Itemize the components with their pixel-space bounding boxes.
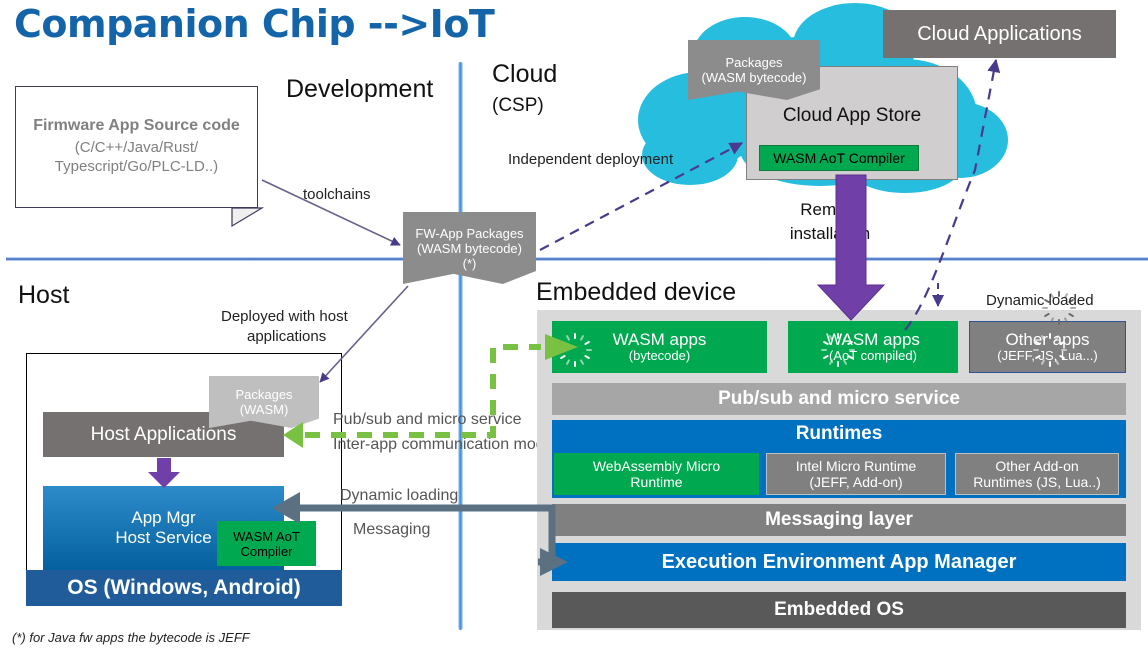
page-title: Companion Chip -->IoT (14, 2, 494, 46)
arrow-remote-installation (818, 175, 884, 320)
cloud-packages-line2: (WASM bytecode) (702, 70, 807, 85)
embedded-runtime-0[interactable]: WebAssembly Micro Runtime (554, 453, 759, 495)
embedded-runtime-2-line1: Other Add-on (995, 458, 1078, 474)
label-deployed-with-host-l1: Deployed with host (221, 308, 348, 325)
embedded-pubsub-bar: Pub/sub and micro service (552, 383, 1126, 415)
firmware-source-line2: Typescript/Go/PLC-LD..) (55, 158, 218, 177)
zone-label-embedded: Embedded device (536, 278, 736, 307)
fw-app-packages-line3: (*) (463, 256, 477, 271)
dynamic-loaded-icon-0 (562, 330, 588, 356)
host-aot-line1: WASM AoT (233, 529, 300, 544)
embedded-app-manager: Execution Environment App Manager (552, 543, 1126, 581)
zone-label-cloud: Cloud (492, 60, 557, 89)
source-card-pointer (232, 208, 262, 226)
firmware-source-title: Firmware App Source code (33, 117, 240, 135)
cloud-app-store-title: Cloud App Store (747, 105, 957, 127)
cloud-applications-box[interactable]: Cloud Applications (883, 10, 1116, 58)
zone-label-host: Host (18, 281, 69, 310)
host-packages-line2: (WASM) (240, 402, 289, 417)
host-aot-line2: Compiler (240, 544, 292, 559)
footnote: (*) for Java fw apps the bytecode is JEF… (12, 630, 250, 645)
embedded-messaging-layer: Messaging layer (552, 504, 1126, 536)
embedded-app-tile-1[interactable]: WASM apps (AoT compiled) (788, 321, 958, 373)
embedded-runtime-2-line2: Runtimes (JS, Lua..) (973, 474, 1101, 490)
zone-label-cloud-sub: (CSP) (492, 95, 544, 117)
fw-app-packages-doc: FW-App Packages (WASM bytecode) (*) (403, 212, 536, 284)
label-pubsub-micro-service: Pub/sub and micro service (333, 411, 522, 429)
firmware-source-line1: (C/C++/Java/Rust/ (75, 139, 198, 158)
dynamic-loaded-icon-1 (825, 330, 851, 356)
embedded-app-sub-0: (bytecode) (629, 349, 690, 364)
cloud-wasm-aot-compiler[interactable]: WASM AoT Compiler (759, 145, 919, 171)
embedded-os: Embedded OS (552, 592, 1126, 628)
embedded-runtime-0-line1: WebAssembly Micro (593, 458, 720, 474)
fw-app-packages-line2: (WASM bytecode) (417, 241, 522, 256)
label-dynamic-loading: Dynamic loading (340, 487, 458, 505)
host-wasm-aot-compiler[interactable]: WASM AoT Compiler (217, 521, 316, 566)
embedded-runtime-2[interactable]: Other Add-on Runtimes (JS, Lua..) (955, 453, 1119, 495)
dynamic-loaded-icon-2 (1037, 330, 1063, 356)
embedded-app-name-0: WASM apps (613, 330, 707, 350)
label-toolchains: toolchains (303, 186, 371, 203)
embedded-runtime-1-line1: Intel Micro Runtime (796, 458, 917, 474)
embedded-runtime-1-line2: (JEFF, Add-on) (809, 474, 902, 490)
host-os-box: OS (Windows, Android) (26, 570, 342, 606)
fw-app-packages-line1: FW-App Packages (415, 226, 523, 241)
label-messaging: Messaging (353, 521, 430, 539)
host-packages-line1: Packages (235, 387, 292, 402)
label-independent-deployment: Independent deployment (508, 151, 673, 168)
embedded-runtime-0-line2: Runtime (630, 474, 682, 490)
host-app-mgr-line1: App Mgr (131, 508, 195, 528)
label-deployed-with-host-l2: applications (247, 328, 326, 345)
horizontal-divider (6, 257, 1148, 261)
label-inter-app-comm: Inter-app communication models (333, 436, 565, 454)
cloud-packages-doc: Packages (WASM bytecode) (688, 40, 820, 100)
dynamic-loaded-legend-label: Dynamic loaded (986, 292, 1094, 309)
embedded-runtimes-title: Runtimes (552, 423, 1126, 445)
cloud-packages-line1: Packages (725, 55, 782, 70)
host-app-mgr-line2: Host Service (115, 528, 211, 548)
slide-canvas: Companion Chip -->IoT Development Cloud … (0, 0, 1148, 653)
zone-label-development: Development (286, 75, 433, 104)
label-remote-installation-l2: installation (760, 224, 900, 244)
embedded-runtime-1[interactable]: Intel Micro Runtime (JEFF, Add-on) (766, 453, 946, 495)
host-packages-doc: Packages (WASM) (209, 376, 319, 428)
label-remote-installation-l1: Remote (775, 200, 885, 220)
firmware-source-card: Firmware App Source code (C/C++/Java/Rus… (15, 86, 258, 208)
